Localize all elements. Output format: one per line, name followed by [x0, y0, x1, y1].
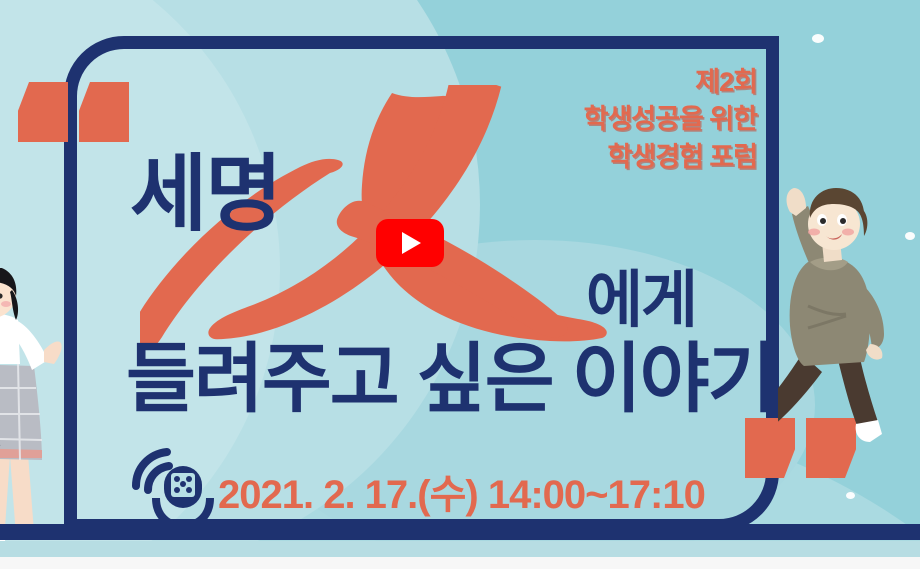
student-girl-illustration: [0, 268, 78, 546]
forum-line-1: 제2회: [584, 64, 757, 101]
play-triangle-icon: [402, 232, 421, 254]
forum-subtitle-block: 제2회 학생성공을 위한 학생경험 포럼: [584, 64, 757, 176]
poster-bottom-light-strip: [0, 541, 920, 557]
decorative-dot: [812, 34, 824, 43]
forum-line-2: 학생성공을 위한: [584, 101, 757, 138]
decorative-dot: [846, 492, 855, 499]
microphone-broadcast-icon: [124, 442, 216, 530]
quote-open-icon: [18, 82, 129, 142]
poster-title-particle: 에게: [586, 270, 696, 332]
video-player[interactable]: 세명 에게 들려주고 싶은 이야기 제2회 학생성공을 위한 학생경험 포럼: [0, 0, 920, 569]
event-date-time: 2021. 2. 17.(수) 14:00~17:10: [218, 462, 705, 520]
poster-title-main: 세명: [130, 152, 281, 236]
video-poster[interactable]: 세명 에게 들려주고 싶은 이야기 제2회 학생성공을 위한 학생경험 포럼: [0, 0, 920, 546]
play-button[interactable]: [376, 219, 444, 267]
forum-line-3: 학생경험 포럼: [584, 139, 757, 176]
student-boy-illustration: [778, 186, 920, 448]
poster-title-tail: 들려주고 싶은 이야기: [126, 342, 776, 418]
poster-bottom-navy-bar: [0, 524, 920, 540]
page-background-strip: [0, 557, 920, 569]
